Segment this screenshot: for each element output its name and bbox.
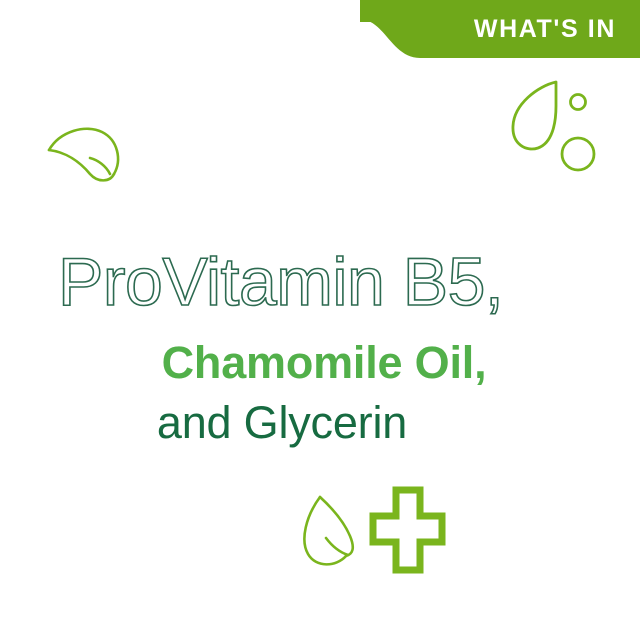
headline-block: ProVitamin B5, Chamomile Oil, and Glycer… xyxy=(0,248,640,450)
droplet-icon xyxy=(508,78,600,184)
headline-line-1: ProVitamin B5, xyxy=(0,248,640,324)
banner: WHAT'S IN xyxy=(0,0,640,62)
leaf-icon xyxy=(46,116,130,182)
promo-card: WHAT'S IN ProVitamin B5, Chamomile Oil, … xyxy=(0,0,640,640)
headline-line-3: and Glycerin xyxy=(0,400,640,450)
banner-title: WHAT'S IN xyxy=(0,0,640,58)
headline-line-2: Chamomile Oil, xyxy=(0,340,640,390)
leaf-icon xyxy=(300,494,372,570)
plus-icon xyxy=(368,484,446,580)
